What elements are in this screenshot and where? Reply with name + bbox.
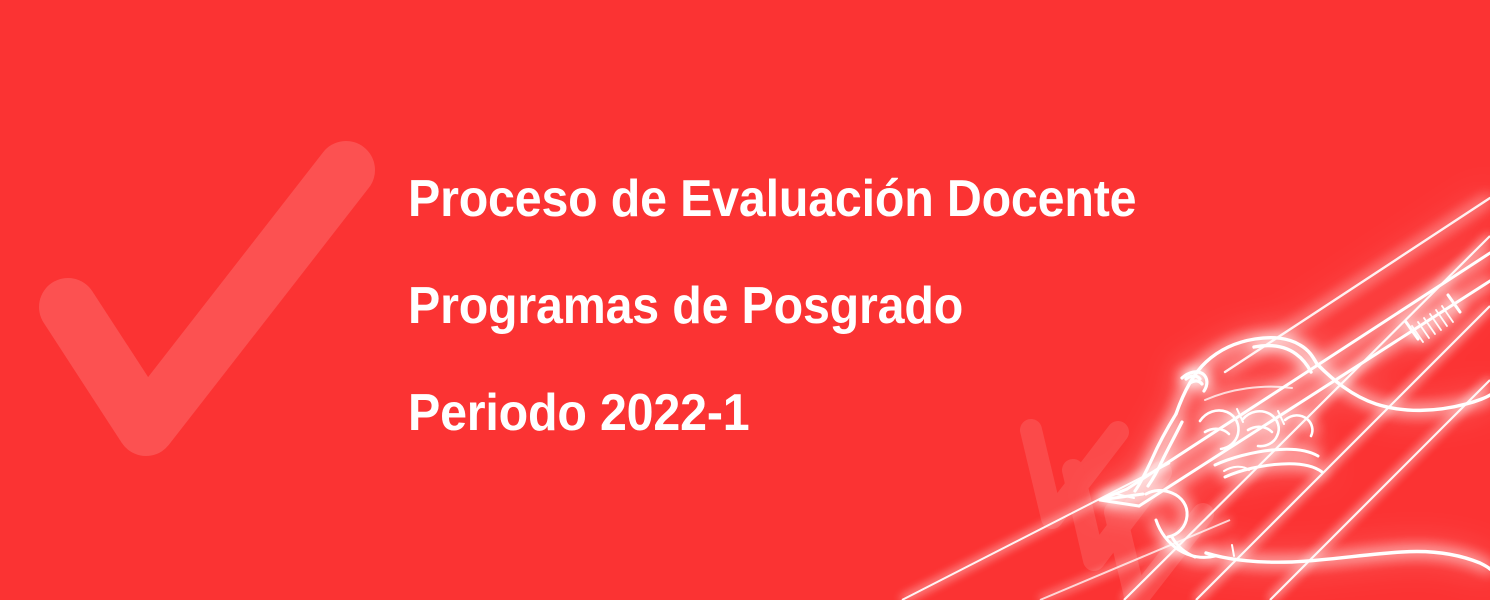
- small-checkmark-icon-2: [1073, 470, 1161, 560]
- banner: Proceso de Evaluación Docente Programas …: [0, 0, 1490, 600]
- small-checkmark-icon-3: [1115, 512, 1203, 600]
- headline-block: Proceso de Evaluación Docente Programas …: [408, 146, 1368, 467]
- ruled-line-5: [1040, 520, 1230, 600]
- headline-line-2: Programas de Posgrado: [408, 253, 1301, 360]
- ruled-line-4: [902, 463, 1170, 600]
- lower-finger: [1146, 490, 1215, 557]
- hand-lower-edge: [1206, 545, 1490, 569]
- headline-line-3: Periodo 2022-1: [408, 360, 1301, 467]
- headline-line-1: Proceso de Evaluación Docente: [408, 146, 1301, 253]
